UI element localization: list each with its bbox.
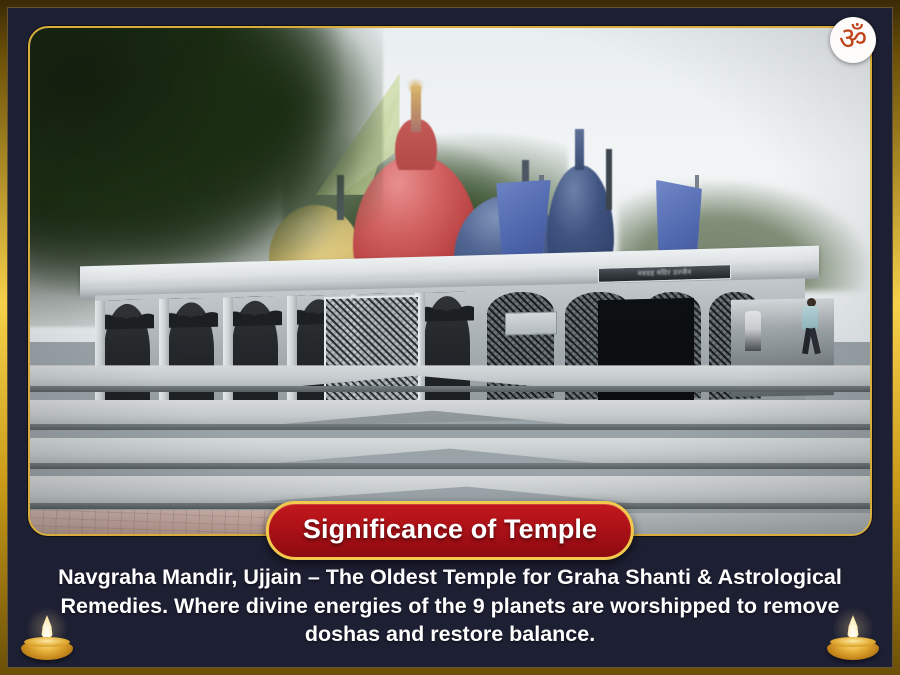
blue-dome-spire: [575, 129, 584, 169]
diya-lamp-left: [21, 614, 73, 660]
platform-step: [30, 438, 870, 466]
temple-photo: नवग्रह मंदिर उज्जैन: [28, 26, 872, 536]
caption-block: Navgraha Mandir, Ujjain – The Oldest Tem…: [7, 563, 893, 649]
wall-window-panel: [505, 312, 557, 337]
foreground-tree-upper: [164, 28, 382, 230]
red-shikhara-finial: [405, 79, 427, 94]
platform-step: [30, 400, 870, 426]
significance-badge: Significance of Temple: [266, 501, 634, 560]
poster: नवग्रह मंदिर उज्जैन: [0, 0, 900, 675]
diya-lamp-right: [827, 614, 879, 660]
om-icon: ॐ: [839, 24, 867, 55]
platform-step-edge: [30, 386, 870, 392]
brand-logo[interactable]: ॐ: [830, 17, 876, 63]
platform-step: [30, 365, 870, 387]
person-standing: [745, 311, 761, 351]
temple-photo-canvas: नवग्रह मंदिर उज्जैन: [30, 28, 870, 534]
temple-signboard-text: नवग्रह मंदिर उज्जैन: [637, 268, 691, 279]
poster-inner: नवग्रह मंदिर उज्जैन: [7, 7, 893, 668]
person-walking: [796, 296, 826, 360]
platform-step-edge: [30, 463, 870, 469]
platform-step-edge: [30, 424, 870, 430]
temple-spire-3: [606, 149, 612, 210]
significance-badge-label: Significance of Temple: [303, 514, 597, 545]
caption-text: Navgraha Mandir, Ujjain – The Oldest Tem…: [47, 563, 853, 649]
